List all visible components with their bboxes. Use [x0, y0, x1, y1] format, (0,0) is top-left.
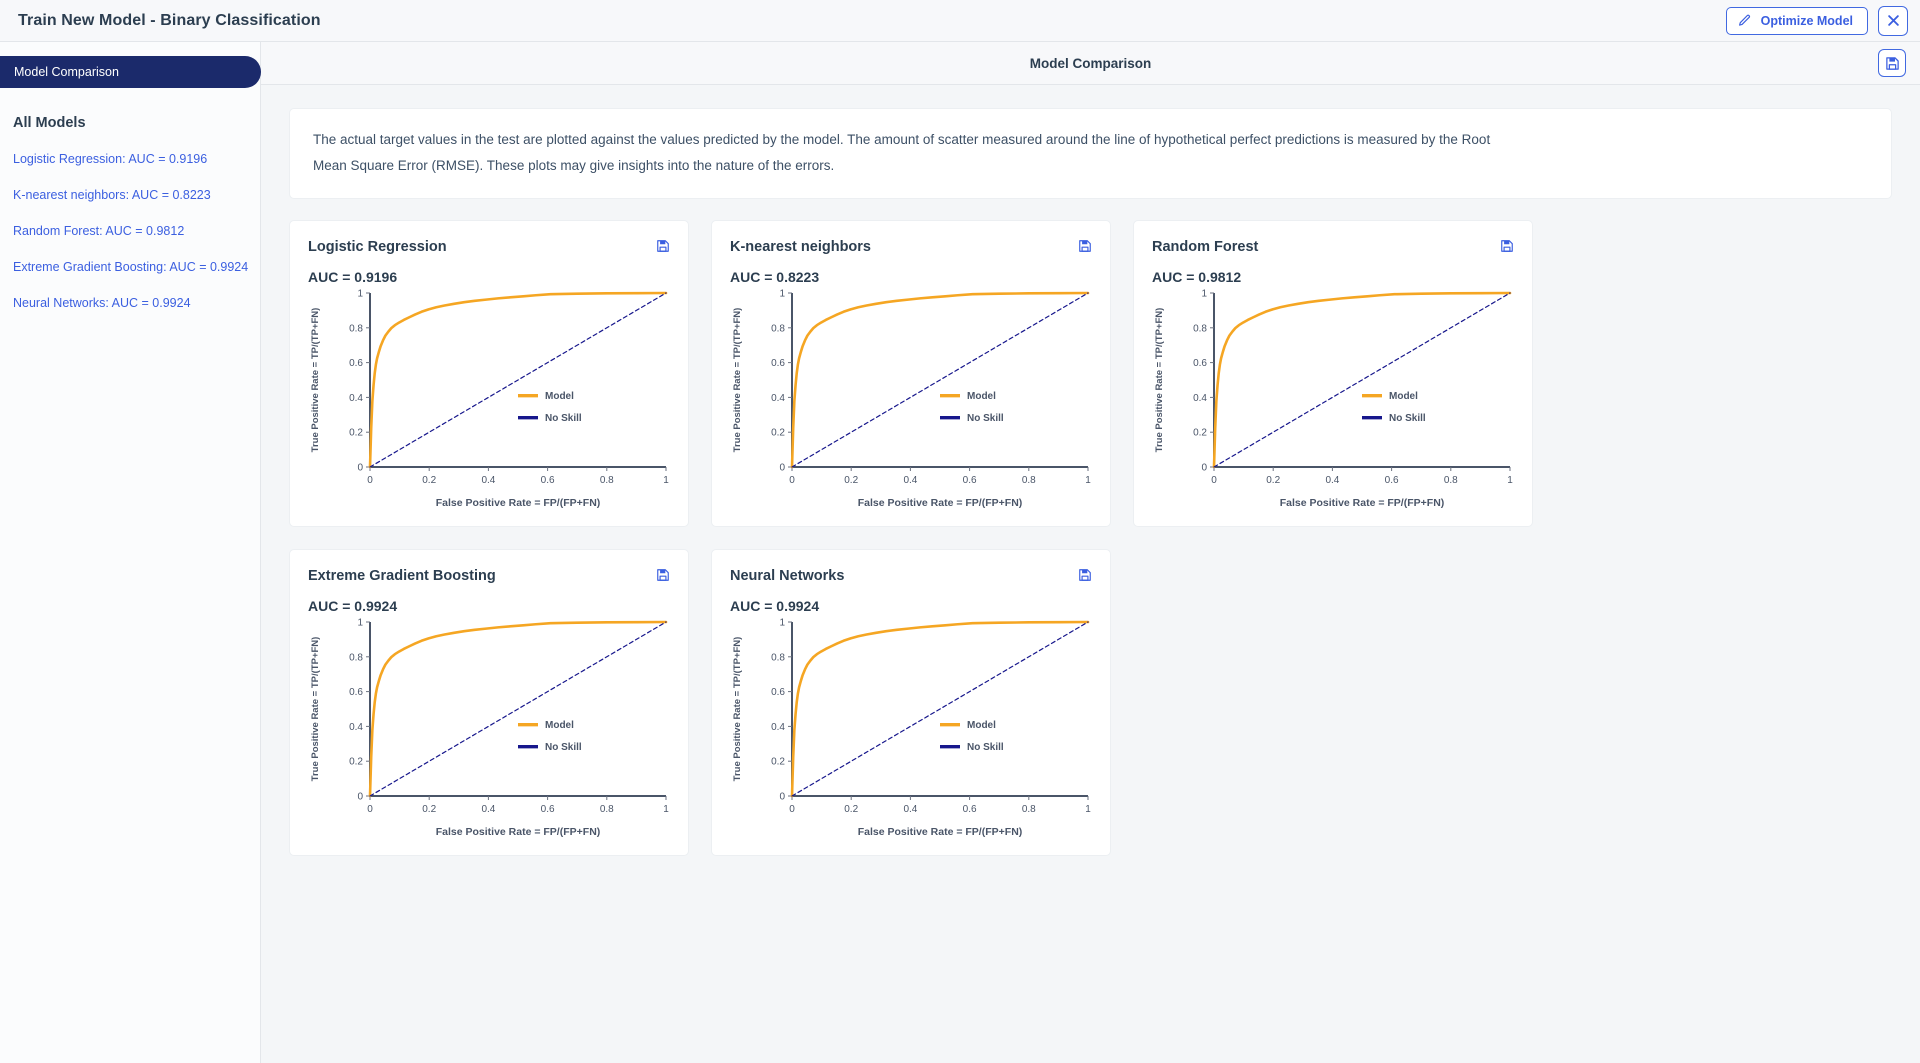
svg-text:0: 0: [367, 475, 373, 486]
svg-text:1: 1: [779, 289, 785, 300]
svg-text:0: 0: [357, 792, 363, 803]
svg-text:0.2: 0.2: [422, 804, 436, 815]
svg-text:0.8: 0.8: [771, 652, 785, 663]
model-card-neural-networks[interactable]: Neural Networks AUC = 0.9924 00.20.40.60…: [711, 549, 1111, 856]
main-content: The actual target values in the test are…: [261, 85, 1920, 1063]
svg-text:True Positive Rate = TP/(TP+FN: True Positive Rate = TP/(TP+FN): [1154, 308, 1165, 453]
sidebar-nav-model-comparison[interactable]: Model Comparison: [0, 56, 261, 88]
svg-text:0: 0: [779, 792, 785, 803]
svg-text:Model: Model: [1389, 391, 1418, 402]
svg-text:False Positive Rate = FP/(FP+F: False Positive Rate = FP/(FP+FN): [436, 826, 601, 838]
svg-text:0.6: 0.6: [349, 687, 363, 698]
svg-text:0.6: 0.6: [1193, 358, 1207, 369]
svg-text:0: 0: [1201, 463, 1207, 474]
svg-text:True Positive Rate = TP/(TP+FN: True Positive Rate = TP/(TP+FN): [310, 637, 321, 782]
svg-text:1: 1: [663, 475, 669, 486]
model-card-title: Random Forest: [1152, 239, 1514, 255]
svg-text:No Skill: No Skill: [1389, 413, 1426, 424]
svg-text:1: 1: [779, 618, 785, 629]
model-card-title: Logistic Regression: [308, 239, 670, 255]
roc-chart: 00.20.40.60.8100.20.40.60.81False Positi…: [1148, 283, 1520, 511]
svg-text:0.8: 0.8: [349, 323, 363, 334]
page-title: Train New Model - Binary Classification: [18, 12, 321, 30]
svg-text:Model: Model: [967, 720, 996, 731]
svg-text:0.8: 0.8: [349, 652, 363, 663]
svg-text:0: 0: [789, 475, 795, 486]
close-icon: [1886, 13, 1901, 28]
sidebar: Model Comparison All Models Logistic Reg…: [0, 42, 261, 1063]
sidebar-section-heading: All Models: [13, 115, 260, 131]
svg-text:0.2: 0.2: [1266, 475, 1280, 486]
svg-text:Model: Model: [545, 391, 574, 402]
cards-row-1: Logistic Regression AUC = 0.9196 00.20.4…: [289, 220, 1892, 527]
svg-text:False Positive Rate = FP/(FP+F: False Positive Rate = FP/(FP+FN): [1280, 497, 1445, 509]
svg-text:0.8: 0.8: [1193, 323, 1207, 334]
svg-text:0.4: 0.4: [1193, 393, 1207, 404]
svg-text:No Skill: No Skill: [967, 742, 1004, 753]
title-bar-actions: Optimize Model: [1726, 6, 1908, 36]
svg-text:0.2: 0.2: [1193, 428, 1207, 439]
model-card-save-button[interactable]: [1500, 239, 1514, 253]
save-all-button[interactable]: [1878, 49, 1906, 77]
svg-text:1: 1: [1201, 289, 1207, 300]
model-card-save-button[interactable]: [656, 568, 670, 582]
cards-row-2: Extreme Gradient Boosting AUC = 0.9924 0…: [289, 549, 1892, 856]
description-text: The actual target values in the test are…: [313, 127, 1523, 179]
svg-text:0.2: 0.2: [422, 475, 436, 486]
save-floppy-icon: [1885, 56, 1900, 71]
model-card-extreme-gradient-boosting[interactable]: Extreme Gradient Boosting AUC = 0.9924 0…: [289, 549, 689, 856]
svg-text:0.4: 0.4: [1325, 475, 1339, 486]
close-button[interactable]: [1878, 6, 1908, 36]
svg-text:0: 0: [789, 804, 795, 815]
svg-text:0.4: 0.4: [903, 475, 917, 486]
svg-text:0.6: 0.6: [349, 358, 363, 369]
model-card-title: K-nearest neighbors: [730, 239, 1092, 255]
svg-text:0.4: 0.4: [481, 804, 495, 815]
svg-text:0.2: 0.2: [349, 757, 363, 768]
svg-text:0.6: 0.6: [963, 804, 977, 815]
roc-chart: 00.20.40.60.8100.20.40.60.81False Positi…: [304, 283, 676, 511]
sidebar-item-neural-networks[interactable]: Neural Networks: AUC = 0.9924: [13, 274, 260, 310]
svg-text:0.8: 0.8: [600, 804, 614, 815]
sidebar-item-random-forest[interactable]: Random Forest: AUC = 0.9812: [13, 202, 260, 238]
model-card-logistic-regression[interactable]: Logistic Regression AUC = 0.9196 00.20.4…: [289, 220, 689, 527]
svg-text:0.2: 0.2: [844, 804, 858, 815]
svg-text:No Skill: No Skill: [967, 413, 1004, 424]
svg-text:0.4: 0.4: [481, 475, 495, 486]
roc-chart: 00.20.40.60.8100.20.40.60.81False Positi…: [726, 612, 1098, 840]
svg-text:0.2: 0.2: [844, 475, 858, 486]
svg-text:0.4: 0.4: [771, 393, 785, 404]
model-card-random-forest[interactable]: Random Forest AUC = 0.9812 00.20.40.60.8…: [1133, 220, 1533, 527]
svg-text:True Positive Rate = TP/(TP+FN: True Positive Rate = TP/(TP+FN): [732, 637, 743, 782]
svg-text:1: 1: [1085, 475, 1091, 486]
grid-spacer: [1133, 549, 1533, 856]
optimize-model-button[interactable]: Optimize Model: [1726, 7, 1868, 35]
svg-text:False Positive Rate = FP/(FP+F: False Positive Rate = FP/(FP+FN): [858, 826, 1023, 838]
save-floppy-icon: [1078, 239, 1092, 253]
roc-chart: 00.20.40.60.8100.20.40.60.81False Positi…: [304, 612, 676, 840]
svg-text:0.4: 0.4: [349, 393, 363, 404]
model-card-k-nearest-neighbors[interactable]: K-nearest neighbors AUC = 0.8223 00.20.4…: [711, 220, 1111, 527]
sidebar-nav-label: Model Comparison: [14, 65, 119, 79]
svg-text:False Positive Rate = FP/(FP+F: False Positive Rate = FP/(FP+FN): [858, 497, 1023, 509]
sidebar-item-extreme-gradient-boosting[interactable]: Extreme Gradient Boosting: AUC = 0.9924: [13, 238, 260, 274]
model-card-title: Neural Networks: [730, 568, 1092, 584]
svg-text:True Positive Rate = TP/(TP+FN: True Positive Rate = TP/(TP+FN): [732, 308, 743, 453]
content-header: Model Comparison: [261, 42, 1920, 85]
svg-text:0.8: 0.8: [1444, 475, 1458, 486]
save-floppy-icon: [656, 239, 670, 253]
svg-text:0.6: 0.6: [771, 687, 785, 698]
model-card-save-button[interactable]: [1078, 568, 1092, 582]
svg-text:0.4: 0.4: [771, 722, 785, 733]
save-floppy-icon: [1078, 568, 1092, 582]
svg-text:0: 0: [367, 804, 373, 815]
svg-text:0.2: 0.2: [349, 428, 363, 439]
roc-chart: 00.20.40.60.8100.20.40.60.81False Positi…: [726, 283, 1098, 511]
svg-text:0.8: 0.8: [1022, 804, 1036, 815]
svg-text:Model: Model: [545, 720, 574, 731]
svg-text:1: 1: [663, 804, 669, 815]
svg-text:0.8: 0.8: [771, 323, 785, 334]
title-bar: Train New Model - Binary Classification …: [0, 0, 1920, 42]
svg-text:0: 0: [357, 463, 363, 474]
svg-text:No Skill: No Skill: [545, 413, 582, 424]
svg-text:1: 1: [1507, 475, 1513, 486]
save-floppy-icon: [1500, 239, 1514, 253]
svg-text:0.6: 0.6: [541, 804, 555, 815]
svg-text:True Positive Rate = TP/(TP+FN: True Positive Rate = TP/(TP+FN): [310, 308, 321, 453]
svg-text:1: 1: [1085, 804, 1091, 815]
optimize-model-label: Optimize Model: [1761, 14, 1853, 28]
sidebar-item-logistic-regression[interactable]: Logistic Regression: AUC = 0.9196: [13, 131, 260, 166]
model-card-save-button[interactable]: [1078, 239, 1092, 253]
svg-text:1: 1: [357, 289, 363, 300]
svg-text:0.6: 0.6: [963, 475, 977, 486]
description-card: The actual target values in the test are…: [289, 108, 1892, 199]
svg-text:0.8: 0.8: [600, 475, 614, 486]
pencil-icon: [1738, 14, 1751, 27]
svg-text:0.2: 0.2: [771, 757, 785, 768]
svg-text:0.6: 0.6: [541, 475, 555, 486]
svg-text:No Skill: No Skill: [545, 742, 582, 753]
content-header-title: Model Comparison: [1030, 56, 1152, 71]
svg-text:False Positive Rate = FP/(FP+F: False Positive Rate = FP/(FP+FN): [436, 497, 601, 509]
svg-text:0.6: 0.6: [1385, 475, 1399, 486]
model-card-save-button[interactable]: [656, 239, 670, 253]
svg-text:0.2: 0.2: [771, 428, 785, 439]
svg-text:Model: Model: [967, 391, 996, 402]
svg-text:0: 0: [779, 463, 785, 474]
svg-text:1: 1: [357, 618, 363, 629]
sidebar-item-k-nearest-neighbors[interactable]: K-nearest neighbors: AUC = 0.8223: [13, 166, 260, 202]
svg-text:0.8: 0.8: [1022, 475, 1036, 486]
save-floppy-icon: [656, 568, 670, 582]
svg-text:0: 0: [1211, 475, 1217, 486]
svg-text:0.4: 0.4: [903, 804, 917, 815]
model-card-title: Extreme Gradient Boosting: [308, 568, 670, 584]
svg-text:0.6: 0.6: [771, 358, 785, 369]
svg-text:0.4: 0.4: [349, 722, 363, 733]
